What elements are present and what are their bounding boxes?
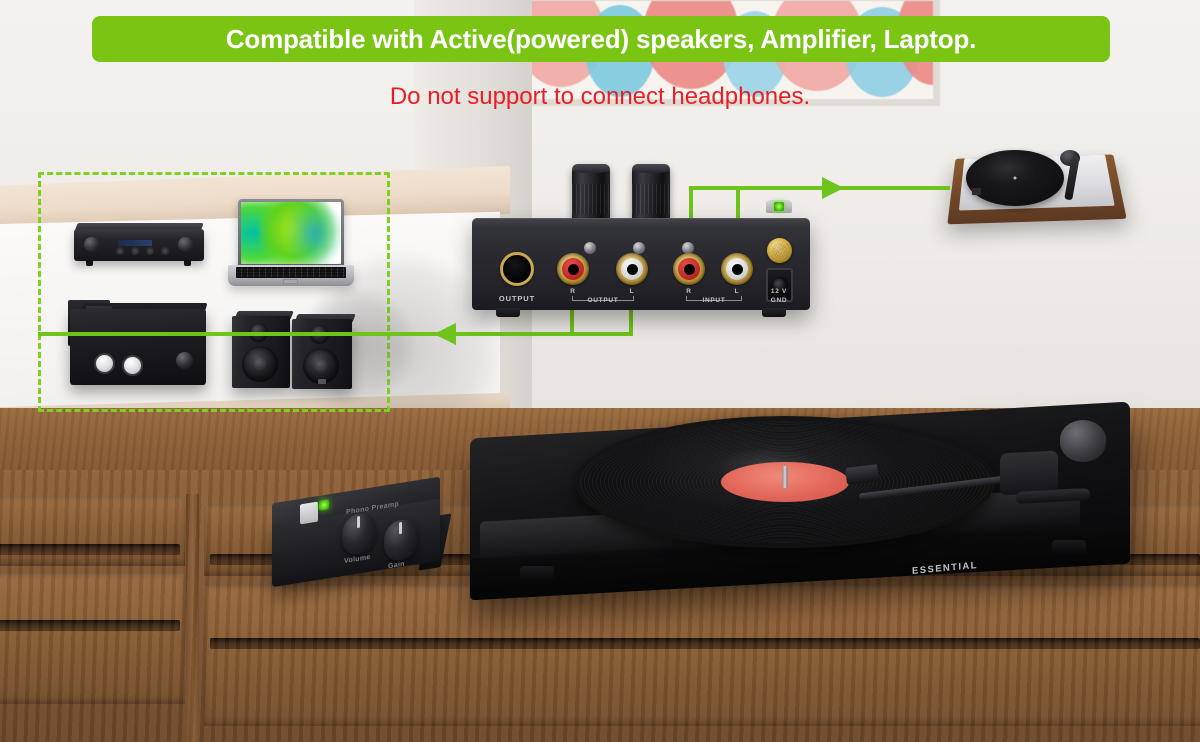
label-input-rca-l: L xyxy=(724,288,750,295)
label-group-output: OUTPUT xyxy=(576,297,630,304)
speaker-woofer xyxy=(242,346,278,382)
label-group-input: INPUT xyxy=(688,297,740,304)
output-rca-left[interactable] xyxy=(616,253,648,285)
tube-amp-volume-knob xyxy=(176,352,193,369)
drawer-pull xyxy=(0,544,180,555)
label-input-rca-r: R xyxy=(676,288,702,295)
laptop-keyboard xyxy=(236,267,346,278)
device-foot xyxy=(496,308,520,317)
turntable-walnut-platter xyxy=(966,150,1064,206)
output-rca-right[interactable] xyxy=(557,253,589,285)
label-output-rca-r: R xyxy=(560,288,586,295)
turntable-spindle xyxy=(783,466,788,488)
ground-screw-terminal[interactable] xyxy=(767,238,792,263)
device-foot xyxy=(762,308,786,317)
amplifier-dial xyxy=(161,247,169,255)
speaker-badge xyxy=(318,379,326,384)
cabinet-divider xyxy=(186,494,199,742)
tonearm-pivot-base xyxy=(1000,450,1058,495)
tube-amplifier xyxy=(70,309,206,385)
infographic-canvas: ESSENTIAL Phono Preamp Volume Gain xyxy=(0,0,1200,742)
compatibility-banner: Compatible with Active(powered) speakers… xyxy=(92,16,1110,62)
amplifier-dial xyxy=(116,247,124,255)
amplifier-dial xyxy=(146,247,154,255)
speaker-left xyxy=(232,316,290,388)
warning-banner-text: Do not support to connect headphones. xyxy=(390,83,810,111)
label-dc-12v: 12 V xyxy=(760,288,798,295)
arrow-to-devices-icon xyxy=(434,323,456,345)
turntable-platter-with-record xyxy=(575,416,995,548)
tonearm-counterweight xyxy=(1060,420,1106,462)
arrow-to-turntable-icon xyxy=(822,177,844,199)
label-output-rca-l: L xyxy=(619,288,645,295)
amplifier-foot xyxy=(86,260,93,266)
amplifier-foot xyxy=(184,260,191,266)
panel-screw xyxy=(584,242,596,254)
amplifier-display xyxy=(118,240,152,246)
turntable-walnut-button[interactable] xyxy=(972,188,981,195)
drawer-right-lower xyxy=(204,586,1200,726)
rear-knob-left[interactable] xyxy=(572,164,610,222)
panel-screw xyxy=(633,242,645,254)
drawer-left-lower xyxy=(0,574,185,704)
speaker-right xyxy=(292,319,352,389)
warning-banner: Do not support to connect headphones. xyxy=(0,80,1200,114)
power-switch[interactable] xyxy=(300,502,318,525)
amplifier-dial xyxy=(131,247,139,255)
drawer-pull xyxy=(0,620,180,631)
laptop-wallpaper xyxy=(241,202,341,264)
label-output-jack: OUTPUT xyxy=(488,294,546,303)
laptop-screen xyxy=(238,199,344,267)
amplifier-knob-right xyxy=(178,237,193,252)
input-rca-right[interactable] xyxy=(673,253,705,285)
compatibility-banner-text: Compatible with Active(powered) speakers… xyxy=(226,24,976,55)
output-jack-635mm[interactable] xyxy=(500,252,534,286)
rear-knob-right[interactable] xyxy=(632,164,670,222)
wire-input-to-turntable xyxy=(689,186,950,190)
phono-preamp-rear-panel: OUTPUT R L OUTPUT R L INPUT 12 V GND xyxy=(472,218,810,310)
power-led-icon xyxy=(319,499,329,511)
turntable-foot xyxy=(520,566,554,580)
tube-amp-meter xyxy=(122,355,143,376)
input-rca-left[interactable] xyxy=(721,253,753,285)
drawer-pull xyxy=(210,638,1200,649)
wire-output-to-devices xyxy=(38,332,633,336)
turntable-foot xyxy=(1052,540,1086,554)
label-gnd: GND xyxy=(760,297,798,304)
power-led-indicator xyxy=(766,200,792,213)
laptop-trackpad xyxy=(283,279,298,284)
drawer-left-upper xyxy=(0,496,185,566)
tube-amp-meter xyxy=(94,353,115,374)
amplifier-knob-left xyxy=(84,237,99,252)
